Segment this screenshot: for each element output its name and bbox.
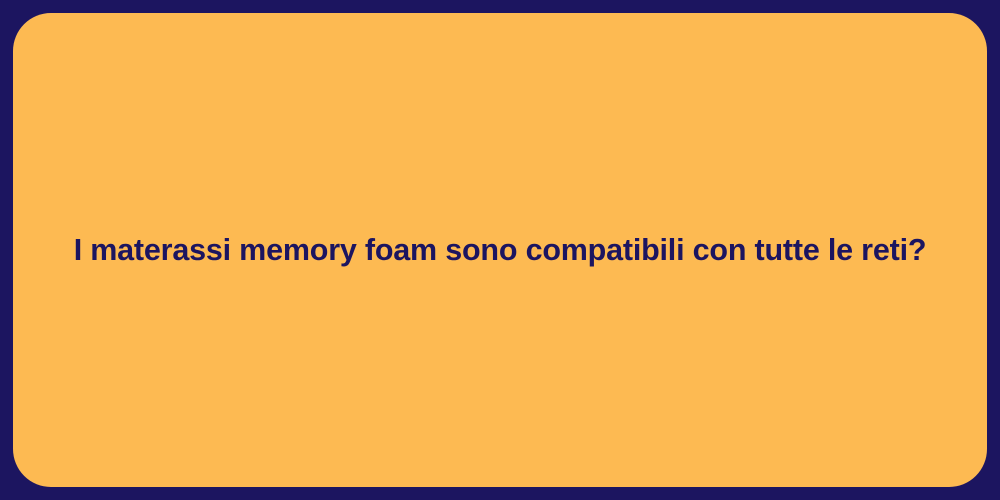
card-frame: I materassi memory foam sono compatibili…	[0, 0, 1000, 500]
question-heading: I materassi memory foam sono compatibili…	[65, 231, 935, 269]
question-card-panel: I materassi memory foam sono compatibili…	[13, 13, 987, 487]
